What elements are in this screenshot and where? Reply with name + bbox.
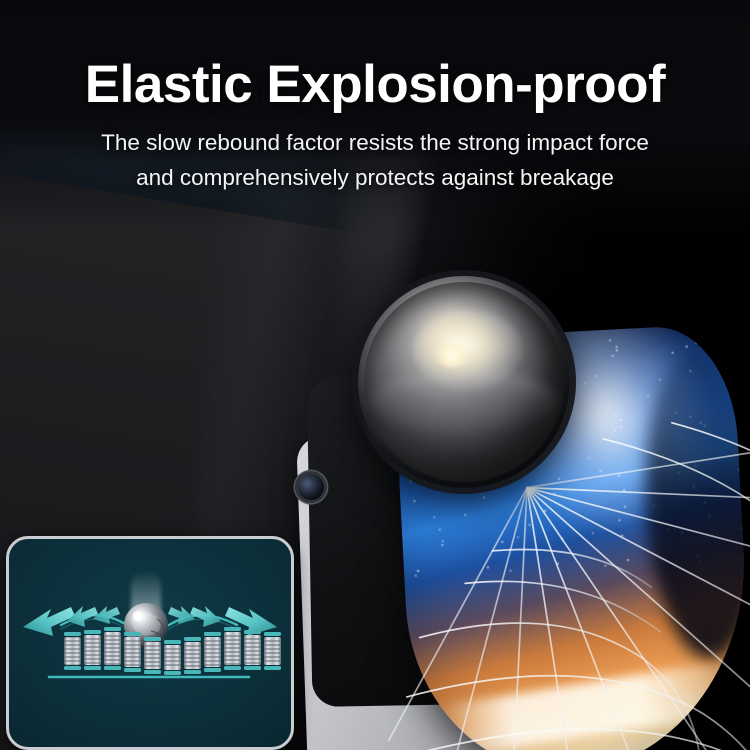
- spring: [184, 637, 201, 674]
- screen-white-stripe: [436, 661, 733, 750]
- energy-arrow-large-right: [225, 607, 277, 636]
- subtitle-line-2: and comprehensively protects against bre…: [0, 161, 750, 196]
- spring: [224, 627, 241, 670]
- energy-arrow-small-right-1: [168, 606, 195, 624]
- spring: [64, 632, 81, 670]
- page-subtitle: The slow rebound factor resists the stro…: [0, 126, 750, 196]
- spring: [104, 627, 121, 670]
- spring: [204, 632, 221, 672]
- spring: [264, 632, 281, 670]
- subtitle-line-1: The slow rebound factor resists the stro…: [0, 126, 750, 161]
- chrome-impact-ball: [358, 276, 570, 488]
- page-title: Elastic Explosion-proof: [0, 57, 750, 113]
- spring: [164, 640, 181, 675]
- spring: [144, 637, 161, 674]
- product-banner: Elastic Explosion-proof The slow rebound…: [0, 0, 750, 750]
- shock-absorption-inset-panel: [6, 536, 294, 750]
- spring: [84, 630, 101, 670]
- spring: [244, 630, 261, 670]
- spring: [124, 632, 141, 672]
